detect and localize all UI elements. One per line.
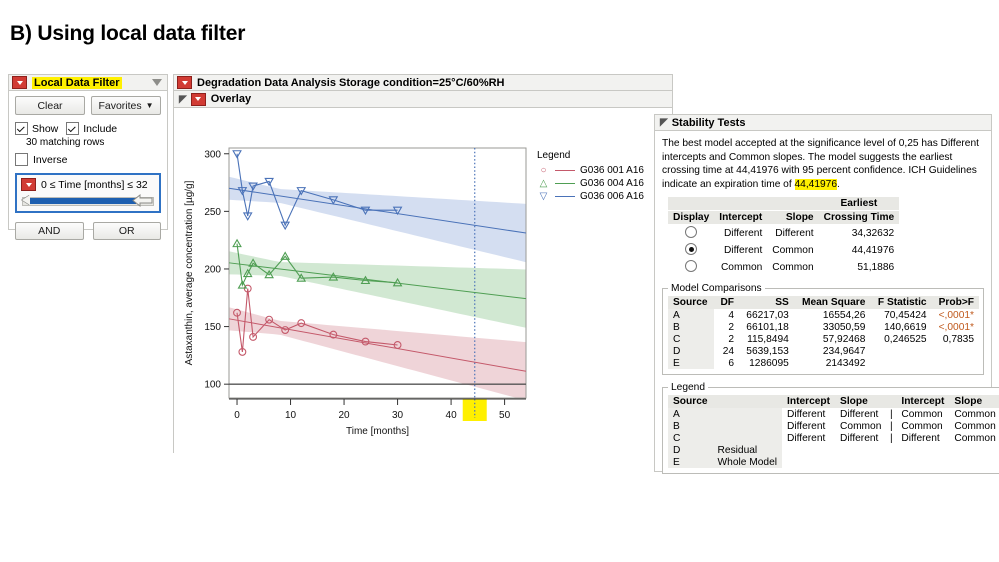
show-label: Show: [32, 123, 58, 135]
x-tick-label: 10: [285, 410, 297, 421]
mc-ss-cell: 66101,18: [739, 321, 794, 333]
legend-col-header: Slope: [835, 395, 886, 408]
include-checkbox[interactable]: [66, 122, 79, 135]
model-comparisons-table: SourceDFSSMean SquareF StatisticProb>F A…: [668, 296, 979, 369]
collapse-triangle-icon[interactable]: [152, 79, 162, 86]
filter-condition-box[interactable]: 0 ≤ Time [months] ≤ 32: [15, 173, 161, 213]
chart-legend: Legend ○G036 001 A16△G036 004 A16▽G036 0…: [537, 150, 644, 203]
x-tick-label: 50: [499, 410, 511, 421]
legend-label: G036 001 A16: [580, 165, 644, 176]
legend-slope2-cell: [949, 456, 999, 468]
filter-red-triangle-icon[interactable]: [21, 178, 36, 191]
mc-df-cell: 2: [714, 321, 739, 333]
legend-slope2-cell: Common: [949, 408, 999, 420]
crossing-time-cell: 51,1886: [819, 259, 900, 276]
mc-source-cell: E: [668, 357, 714, 369]
display-radio-cell[interactable]: [668, 242, 714, 259]
legend-source-cell: E: [668, 456, 713, 468]
slope-cell: Common: [767, 259, 818, 276]
legend-source-cell: C: [668, 432, 713, 444]
display-radio-cell[interactable]: [668, 259, 714, 276]
overlay-plot-canvas: 10015020025030001020304050Time [months]A…: [173, 108, 673, 453]
red-triangle-menu-icon[interactable]: [12, 76, 27, 89]
chevron-down-icon: ▼: [146, 101, 154, 110]
display-radio-cell[interactable]: [668, 225, 714, 243]
legend-line: [555, 183, 575, 184]
legend-intercept2-cell: [896, 456, 949, 468]
legend-separator-cell: [886, 444, 896, 456]
legend-name-cell: [713, 432, 782, 444]
display-table-row[interactable]: DifferentDifferent34,32632: [668, 225, 899, 243]
mc-ms-cell: 33050,59: [794, 321, 871, 333]
legend-name-cell: [713, 408, 782, 420]
display-table-header: DisplayInterceptSlopeCrossing Time: [668, 211, 899, 225]
table-row: B266101,1833050,59140,6619<,0001*: [668, 321, 979, 333]
legend-col-header: Source: [668, 395, 713, 408]
crossing-time-cell: 34,32632: [819, 225, 900, 243]
y-tick-label: 250: [204, 207, 221, 218]
clear-button[interactable]: Clear: [15, 96, 85, 115]
legend-slope2-cell: Common: [949, 420, 999, 432]
intercept-cell: Different: [714, 225, 767, 243]
mc-col-header: Source: [668, 296, 714, 309]
matching-rows-label: 30 matching rows: [26, 137, 161, 148]
mc-source-cell: D: [668, 345, 714, 357]
mc-f-cell: [870, 357, 931, 369]
inverse-checkbox[interactable]: [15, 153, 28, 166]
display-table-row[interactable]: CommonCommon51,1886: [668, 259, 899, 276]
slider-handle-left[interactable]: [22, 195, 30, 205]
legend-slope2-cell: [949, 444, 999, 456]
mc-ss-cell: 5639,153: [739, 345, 794, 357]
legend-name-cell: [713, 420, 782, 432]
legend-separator-cell: |: [886, 432, 896, 444]
mc-ss-cell: 115,8494: [739, 333, 794, 345]
stability-tests-panel: ◤ Stability Tests The best model accepte…: [654, 114, 992, 472]
legend-marker-icon: ▽: [537, 191, 550, 202]
legend-slope1-cell: Different: [835, 432, 886, 444]
report-red-triangle-icon[interactable]: [177, 76, 192, 89]
mc-col-header: Prob>F: [932, 296, 979, 309]
model-radio-button[interactable]: [685, 243, 697, 255]
mc-p-cell: [932, 357, 979, 369]
legend-col-header: Intercept: [782, 395, 835, 408]
mc-ss-cell: 1286095: [739, 357, 794, 369]
mc-df-cell: 24: [714, 345, 739, 357]
mc-ms-cell: 57,92468: [794, 333, 871, 345]
legend-slope2-cell: Common: [949, 432, 999, 444]
display-model-table[interactable]: Earliest DisplayInterceptSlopeCrossing T…: [668, 197, 899, 276]
legend-intercept1-cell: [782, 444, 835, 456]
legend-intercept2-cell: [896, 444, 949, 456]
table-row: CDifferentDifferent|DifferentCommon: [668, 432, 999, 444]
display-col-header: Display: [668, 211, 714, 225]
legend-label: G036 004 A16: [580, 178, 644, 189]
y-tick-label: 100: [204, 380, 221, 391]
legend-intercept1-cell: Different: [782, 408, 835, 420]
report-title: Degradation Data Analysis Storage condit…: [197, 77, 504, 89]
legend-separator-cell: [886, 456, 896, 468]
table-row: BDifferentCommon|CommonCommon: [668, 420, 999, 432]
local-data-filter-title: Local Data Filter: [32, 77, 122, 89]
mc-df-cell: 6: [714, 357, 739, 369]
slope-cell: Different: [767, 225, 818, 243]
model-radio-button[interactable]: [685, 226, 697, 238]
legend-intercept2-cell: Common: [896, 420, 949, 432]
mc-source-cell: C: [668, 333, 714, 345]
mc-p-cell: <,0001*: [932, 321, 979, 333]
overlay-title-bar[interactable]: ◤ Overlay: [173, 91, 673, 108]
spacer-cell-3: [767, 197, 818, 211]
y-tick-label: 150: [204, 322, 221, 333]
time-range-slider[interactable]: [22, 194, 154, 207]
mc-ms-cell: 2143492: [794, 357, 871, 369]
mc-p-cell: <,0001*: [932, 309, 979, 321]
legend-col-header: [713, 395, 782, 408]
crossing-time-cell: 44,41976: [819, 242, 900, 259]
stability-tests-header[interactable]: ◤ Stability Tests: [654, 114, 992, 131]
model-comparisons-box: Model Comparisons SourceDFSSMean SquareF…: [662, 283, 984, 375]
mc-source-cell: A: [668, 309, 714, 321]
filter-expression-label: 0 ≤ Time [months] ≤ 32: [41, 179, 148, 191]
mc-p-cell: 0,7835: [932, 333, 979, 345]
legend-slope1-cell: [835, 444, 886, 456]
display-table-row[interactable]: DifferentCommon44,41976: [668, 242, 899, 259]
legend-source-cell: A: [668, 408, 713, 420]
legend-table-header: SourceInterceptSlopeInterceptSlope: [668, 395, 999, 408]
y-tick-label: 300: [204, 149, 221, 160]
or-button[interactable]: OR: [93, 222, 162, 240]
table-row: ADifferentDifferent|CommonCommon: [668, 408, 999, 420]
legend-line: [555, 196, 575, 197]
overlay-title: Overlay: [211, 93, 251, 105]
legend-intercept1-cell: Different: [782, 432, 835, 444]
display-col-header: Crossing Time: [819, 211, 900, 225]
mc-ss-cell: 66217,03: [739, 309, 794, 321]
mc-p-cell: [932, 345, 979, 357]
legend-table-body: ADifferentDifferent|CommonCommonBDiffere…: [668, 408, 999, 468]
mc-source-cell: B: [668, 321, 714, 333]
legend-separator-cell: |: [886, 408, 896, 420]
mc-ms-cell: 16554,26: [794, 309, 871, 321]
legend-col-header: Intercept: [896, 395, 949, 408]
table-row: EWhole Model: [668, 456, 999, 468]
chart-legend-item[interactable]: ▽G036 006 A16: [537, 190, 644, 203]
mc-f-cell: 0,246525: [870, 333, 931, 345]
model-comparisons-header: SourceDFSSMean SquareF StatisticProb>F: [668, 296, 979, 309]
inverse-label: Inverse: [33, 154, 67, 166]
mc-f-cell: 140,6619: [870, 321, 931, 333]
display-col-header: Intercept: [714, 211, 767, 225]
spacer-cell-2: [714, 197, 767, 211]
stability-tests-title: Stability Tests: [672, 117, 746, 129]
model-radio-button[interactable]: [685, 260, 697, 272]
chart-legend-item[interactable]: △G036 004 A16: [537, 177, 644, 190]
mc-col-header: Mean Square: [794, 296, 871, 309]
mc-ms-cell: 234,9647: [794, 345, 871, 357]
earliest-header: Earliest: [819, 197, 900, 211]
show-checkbox[interactable]: [15, 122, 28, 135]
legend-slope1-cell: Common: [835, 420, 886, 432]
x-tick-label: 40: [446, 410, 458, 421]
favorites-label: Favorites: [98, 100, 141, 112]
display-table-header-top: Earliest: [668, 197, 899, 211]
legend-marker-icon: ○: [537, 165, 550, 176]
x-tick-label: 20: [338, 410, 350, 421]
legend-label: G036 006 A16: [580, 191, 644, 202]
intercept-cell: Different: [714, 242, 767, 259]
y-axis-title: Astaxanthin, average concentration [µg/g…: [184, 180, 195, 365]
x-tick-label: 30: [392, 410, 404, 421]
local-data-filter-panel: Local Data Filter Clear Favorites ▼ Show…: [8, 74, 168, 230]
summary-part-2: .: [837, 179, 840, 190]
stability-disclosure-icon[interactable]: ◤: [660, 117, 668, 128]
legend-col-header: Slope: [949, 395, 999, 408]
stability-summary-text: The best model accepted at the significa…: [662, 137, 984, 191]
expiration-time-highlight: 44,41976: [795, 179, 838, 190]
legend-source-cell: B: [668, 420, 713, 432]
overlay-disclosure-icon[interactable]: ◤: [179, 94, 187, 105]
report-panel: Degradation Data Analysis Storage condit…: [173, 74, 673, 453]
include-label: Include: [83, 123, 117, 135]
y-tick-label: 200: [204, 264, 221, 275]
slider-fill: [29, 198, 136, 204]
mc-col-header: F Statistic: [870, 296, 931, 309]
legend-marker-icon: △: [537, 178, 550, 189]
table-row: C2115,849457,924680,2465250,7835: [668, 333, 979, 345]
legend-intercept2-cell: Different: [896, 432, 949, 444]
legend-slope1-cell: [835, 456, 886, 468]
overlay-red-triangle-icon[interactable]: [191, 93, 206, 106]
legend-name-cell: Residual: [713, 444, 782, 456]
mc-f-cell: 70,45424: [870, 309, 931, 321]
spacer-cell-1: [668, 197, 714, 211]
local-data-filter-header[interactable]: Local Data Filter: [8, 74, 168, 91]
table-row: A466217,0316554,2670,45424<,0001*: [668, 309, 979, 321]
legend-name-cell: Whole Model: [713, 456, 782, 468]
legend-slope1-cell: Different: [835, 408, 886, 420]
slider-handle-right[interactable]: [132, 194, 154, 207]
favorites-button[interactable]: Favorites ▼: [91, 96, 161, 115]
mc-df-cell: 4: [714, 309, 739, 321]
table-row: DResidual: [668, 444, 999, 456]
chart-legend-item[interactable]: ○G036 001 A16: [537, 164, 644, 177]
legend-box-legend: Legend: [668, 382, 708, 393]
legend-intercept1-cell: Different: [782, 420, 835, 432]
mc-col-header: DF: [714, 296, 739, 309]
x-axis-title: Time [months]: [346, 426, 409, 437]
legend-intercept2-cell: Common: [896, 408, 949, 420]
legend-separator-cell: |: [886, 420, 896, 432]
report-title-bar[interactable]: Degradation Data Analysis Storage condit…: [173, 74, 673, 91]
model-comparisons-body: A466217,0316554,2670,45424<,0001*B266101…: [668, 309, 979, 369]
table-row: E612860952143492: [668, 357, 979, 369]
display-table-body: DifferentDifferent34,32632DifferentCommo…: [668, 225, 899, 277]
x-tick-label: 0: [234, 410, 240, 421]
legend-intercept1-cell: [782, 456, 835, 468]
display-col-header: Slope: [767, 211, 818, 225]
legend-box: Legend SourceInterceptSlopeInterceptSlop…: [662, 382, 999, 474]
legend-col-header: [886, 395, 896, 408]
legend-table: SourceInterceptSlopeInterceptSlope ADiff…: [668, 395, 999, 468]
and-button[interactable]: AND: [15, 222, 84, 240]
model-comparisons-legend: Model Comparisons: [668, 283, 765, 294]
intercept-cell: Common: [714, 259, 767, 276]
legend-source-cell: D: [668, 444, 713, 456]
chart-legend-title: Legend: [537, 150, 644, 161]
mc-df-cell: 2: [714, 333, 739, 345]
mc-f-cell: [870, 345, 931, 357]
slope-cell: Common: [767, 242, 818, 259]
mc-col-header: SS: [739, 296, 794, 309]
page-title: B) Using local data filter: [10, 22, 245, 46]
legend-line: [555, 170, 575, 171]
table-row: D245639,153234,9647: [668, 345, 979, 357]
